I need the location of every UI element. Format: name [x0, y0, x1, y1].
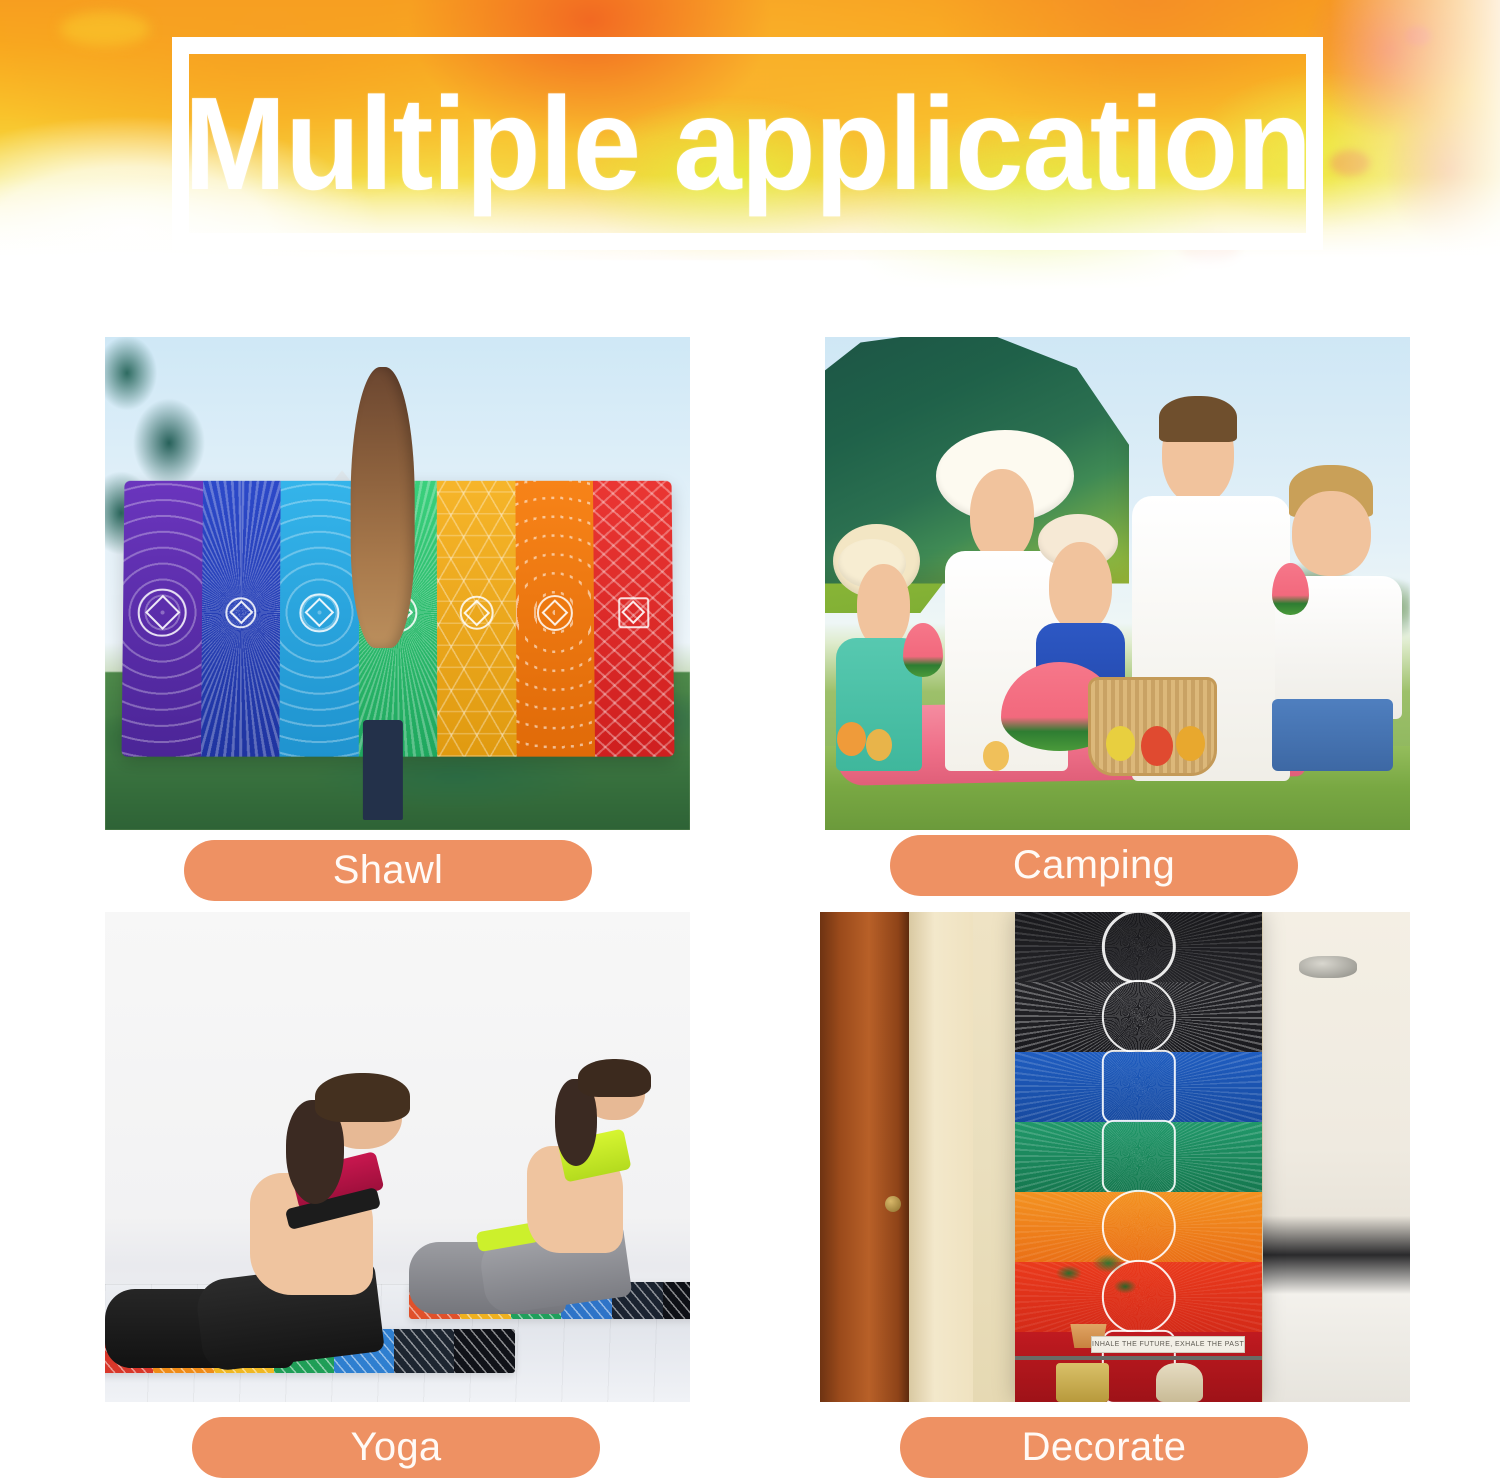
decor-frame	[1056, 1363, 1109, 1402]
wall-sign: INHALE THE FUTURE, EXHALE THE PAST	[1091, 1336, 1244, 1353]
wooden-door	[820, 912, 909, 1402]
photo-yoga	[105, 912, 690, 1402]
photo-camping	[825, 337, 1410, 830]
page-title: Multiple application	[212, 37, 1282, 250]
photo-shawl	[105, 337, 690, 830]
yogi-back	[409, 1059, 690, 1314]
console-table	[1015, 1356, 1263, 1360]
buddha-statue	[1156, 1363, 1203, 1402]
label-yoga[interactable]: Yoga	[192, 1417, 600, 1478]
kitchen-background	[1263, 912, 1411, 1402]
label-decorate[interactable]: Decorate	[900, 1417, 1308, 1478]
ceiling-light	[1299, 956, 1357, 978]
header-banner: Multiple application	[0, 0, 1500, 300]
photo-decorate: INHALE THE FUTURE, EXHALE THE PAST	[820, 912, 1410, 1402]
person-holding-tapestry	[351, 367, 415, 821]
label-camping[interactable]: Camping	[890, 835, 1298, 896]
child-boy	[1270, 465, 1410, 790]
label-shawl[interactable]: Shawl	[184, 840, 592, 901]
door-knob	[885, 1196, 901, 1212]
potted-plant	[1050, 1250, 1144, 1333]
